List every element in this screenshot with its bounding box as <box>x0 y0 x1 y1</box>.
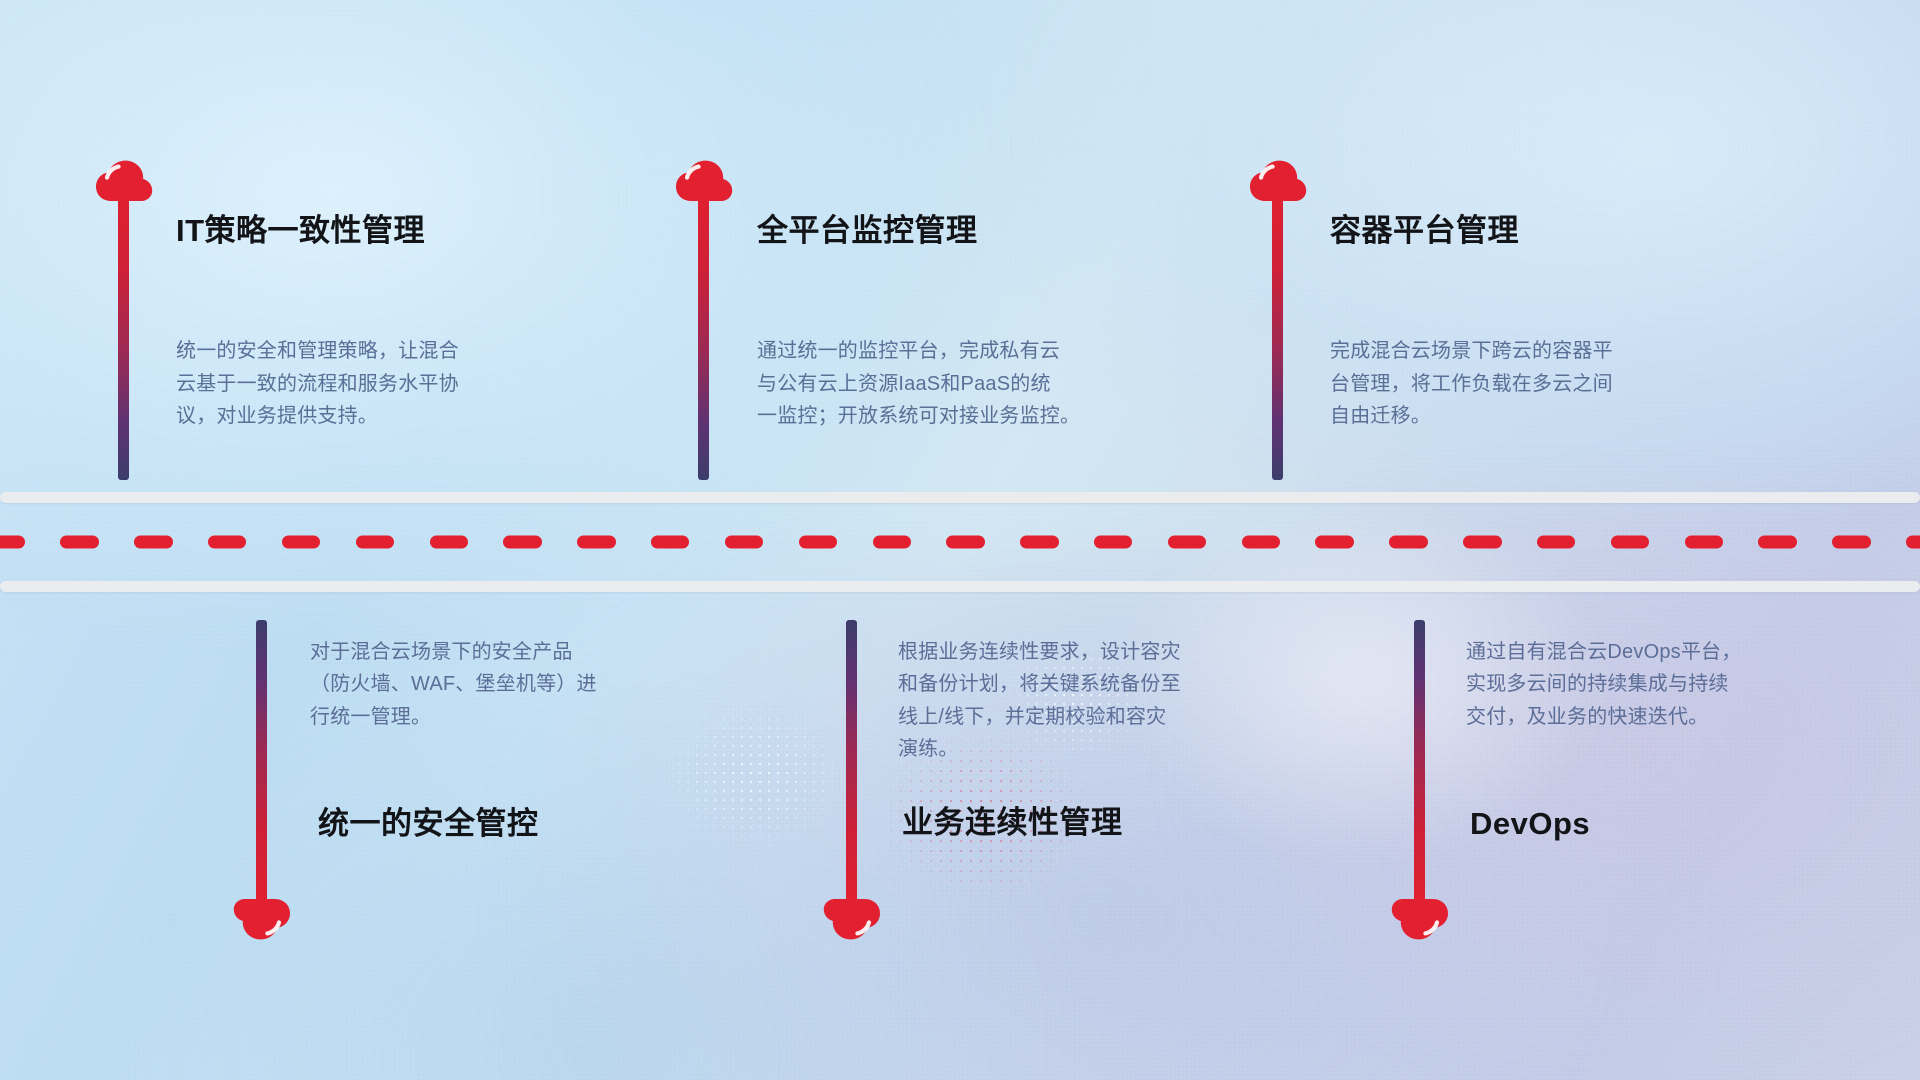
road-dash <box>799 536 837 549</box>
road-dash <box>282 536 320 549</box>
road-dash <box>873 536 911 549</box>
feature-card-container-platform: 容器平台管理 完成混合云场景下跨云的容器平 台管理，将工作负载在多云之间 自由迁… <box>1330 212 1800 432</box>
road-dash <box>1020 536 1058 549</box>
road-dash <box>1242 536 1280 549</box>
feature-card-monitoring: 全平台监控管理 通过统一的监控平台，完成私有云 与公有云上资源IaaS和PaaS… <box>757 212 1227 432</box>
feature-card-security: 对于混合云场景下的安全产品 （防火墙、WAF、堡垒机等）进 行统一管理。 统一的… <box>310 636 780 842</box>
feature-description: 通过自有混合云DevOps平台， 实现多云间的持续集成与持续 交付，及业务的快速… <box>1466 636 1916 733</box>
road-dash <box>1537 536 1575 549</box>
road-dash <box>1463 536 1501 549</box>
road-dash <box>1685 536 1723 549</box>
feature-card-business-continuity: 根据业务连续性要求，设计容灾 和备份计划，将关键系统备份至 线上/线下，并定期校… <box>898 636 1368 841</box>
road-dash <box>725 536 763 549</box>
infographic-canvas: IT策略一致性管理 统一的安全和管理策略，让混合 云基于一致的流程和服务水平协 … <box>0 0 1920 1080</box>
road-dash <box>1906 536 1920 549</box>
road-dash <box>60 536 98 549</box>
feature-description: 根据业务连续性要求，设计容灾 和备份计划，将关键系统备份至 线上/线下，并定期校… <box>898 636 1368 766</box>
feature-title: IT策略一致性管理 <box>176 212 646 249</box>
road-dash <box>1315 536 1353 549</box>
feature-card-devops: 通过自有混合云DevOps平台， 实现多云间的持续集成与持续 交付，及业务的快速… <box>1466 636 1916 842</box>
road-dash <box>430 536 468 549</box>
road-dash <box>651 536 689 549</box>
road-dash <box>0 536 25 549</box>
road-dash <box>1094 536 1132 549</box>
road-dash <box>946 536 984 549</box>
road-edge-top <box>0 492 1920 503</box>
feature-title: 统一的安全管控 <box>310 805 780 842</box>
road-edge-bottom <box>0 581 1920 592</box>
feature-description: 通过统一的监控平台，完成私有云 与公有云上资源IaaS和PaaS的统 一监控；开… <box>757 335 1227 432</box>
road-dash <box>1168 536 1206 549</box>
road-dash <box>1832 536 1870 549</box>
feature-title: 容器平台管理 <box>1330 212 1800 249</box>
feature-description: 对于混合云场景下的安全产品 （防火墙、WAF、堡垒机等）进 行统一管理。 <box>310 636 780 733</box>
feature-title: 业务连续性管理 <box>898 804 1368 841</box>
feature-title: 全平台监控管理 <box>757 212 1227 249</box>
road-dash <box>577 536 615 549</box>
feature-description: 完成混合云场景下跨云的容器平 台管理，将工作负载在多云之间 自由迁移。 <box>1330 335 1800 432</box>
road-dash <box>1758 536 1796 549</box>
road-divider <box>0 492 1920 592</box>
road-dash <box>134 536 172 549</box>
road-dash <box>1389 536 1427 549</box>
feature-title: DevOps <box>1466 805 1916 842</box>
road-dash <box>503 536 541 549</box>
road-dash <box>208 536 246 549</box>
feature-description: 统一的安全和管理策略，让混合 云基于一致的流程和服务水平协 议，对业务提供支持。 <box>176 335 646 432</box>
road-center-dashes <box>0 536 1907 549</box>
feature-card-it-policy: IT策略一致性管理 统一的安全和管理策略，让混合 云基于一致的流程和服务水平协 … <box>176 212 646 432</box>
road-dash <box>356 536 394 549</box>
road-dash <box>1611 536 1649 549</box>
